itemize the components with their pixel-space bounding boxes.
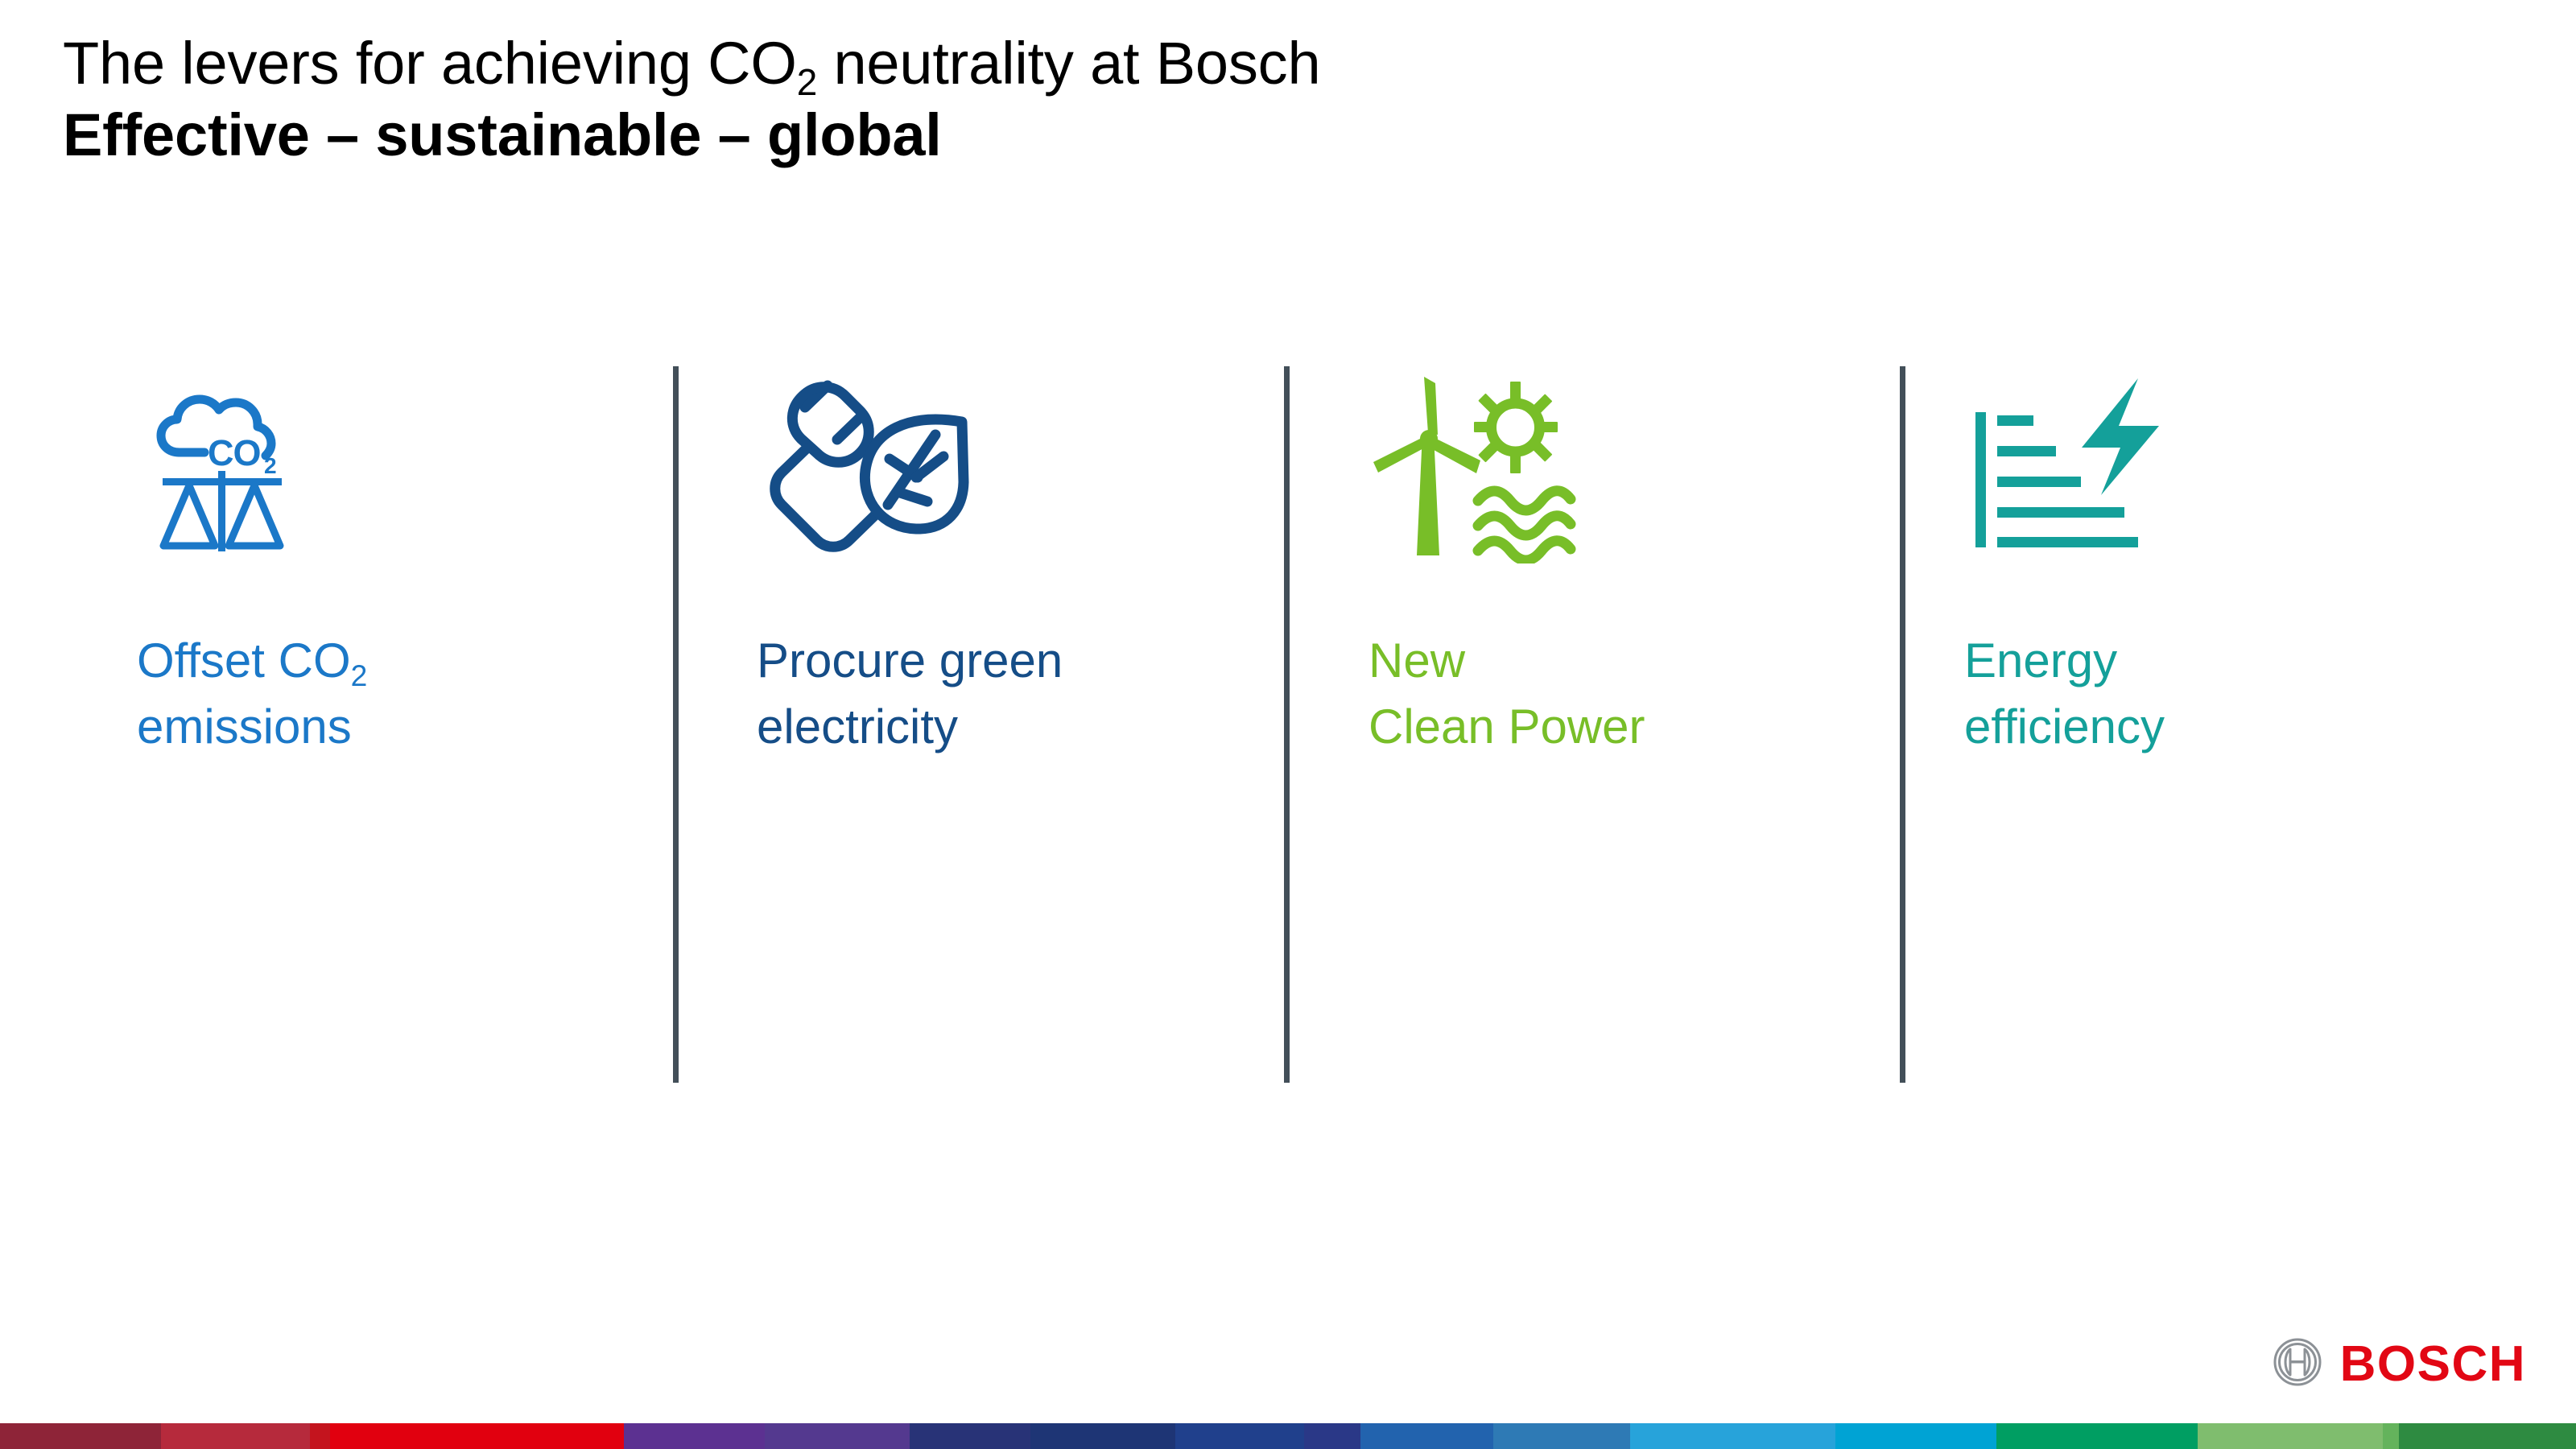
lever-label-new-clean-power: NewClean Power [1368, 628, 1884, 759]
color-bar-segment [2383, 1423, 2399, 1449]
color-bar-segment [2399, 1423, 2576, 1449]
slide-title-block: The levers for achieving CO2 neutrality … [63, 31, 2156, 169]
bar-chart-lightning-bolt-icon [1972, 378, 2230, 588]
color-bar-segment [0, 1423, 161, 1449]
color-bar-segment [1493, 1423, 1630, 1449]
color-bar-segment [1304, 1423, 1360, 1449]
color-bar-segment [1630, 1423, 1835, 1449]
color-bar-segment [1175, 1423, 1304, 1449]
lever-label-offset-co2-emissions: Offset CO2emissions [137, 628, 652, 759]
co2-subscript: 2 [351, 658, 368, 692]
page-subtitle: Effective – sustainable – global [63, 102, 2156, 169]
lever-label-procure-green-electricity: Procure greenelectricity [757, 628, 1272, 759]
lever-card-new-clean-power: NewClean Power [1368, 362, 1948, 1087]
lever-card-offset-co2-emissions: CO 2 Offset CO2emissions [137, 362, 716, 1087]
lever-label-line-1: Procure green [757, 634, 1063, 687]
lever-label-line-2: electricity [757, 700, 958, 753]
wind-turbine-sun-waves-icon [1368, 362, 1626, 572]
page-title-line-1-tail: neutrality at Bosch [817, 30, 1320, 97]
color-bar-segment [2198, 1423, 2383, 1449]
page-title-line-1: The levers for achieving CO2 neutrality … [63, 31, 2156, 97]
color-bar-segment [1360, 1423, 1493, 1449]
lever-card-procure-green-electricity: Procure greenelectricity [757, 362, 1336, 1087]
levers-row: CO 2 Offset CO2emissions [0, 362, 2576, 1087]
lever-label-line-1: Energy [1964, 634, 2117, 687]
lever-label-energy-efficiency: Energyefficiency [1964, 628, 2479, 759]
svg-text:CO: CO [208, 432, 261, 473]
page-title-line-1-text: The levers for achieving CO [63, 30, 797, 97]
color-bar-segment [1835, 1423, 1996, 1449]
color-bar-segment [624, 1423, 765, 1449]
color-bar-segment [310, 1423, 330, 1449]
color-bar-segment [910, 1423, 1030, 1449]
lever-label-line-2: emissions [137, 700, 352, 753]
lever-label-line-1: New [1368, 634, 1465, 687]
bosch-anchor-symbol [2273, 1337, 2322, 1391]
lever-label-line-2: efficiency [1964, 700, 2165, 753]
color-bar-segment [1996, 1423, 2198, 1449]
color-bar-segment [161, 1423, 310, 1449]
co2-cloud-balance-scale-icon: CO 2 [137, 378, 394, 588]
bosch-wordmark: BOSCH [2340, 1340, 2526, 1389]
color-bar-segment [765, 1423, 910, 1449]
color-bar-segment [330, 1423, 624, 1449]
lever-label-line-2: Clean Power [1368, 700, 1645, 753]
svg-text:2: 2 [264, 453, 277, 478]
lever-card-energy-efficiency: Energyefficiency [1964, 362, 2544, 1087]
bosch-logo: BOSCH [2273, 1337, 2526, 1391]
brand-color-bar [0, 1423, 2576, 1449]
plug-leaf-icon [757, 370, 1014, 580]
co2-subscript: 2 [797, 61, 817, 103]
color-bar-segment [1030, 1423, 1175, 1449]
lever-label-line-1: Offset CO [137, 634, 351, 687]
